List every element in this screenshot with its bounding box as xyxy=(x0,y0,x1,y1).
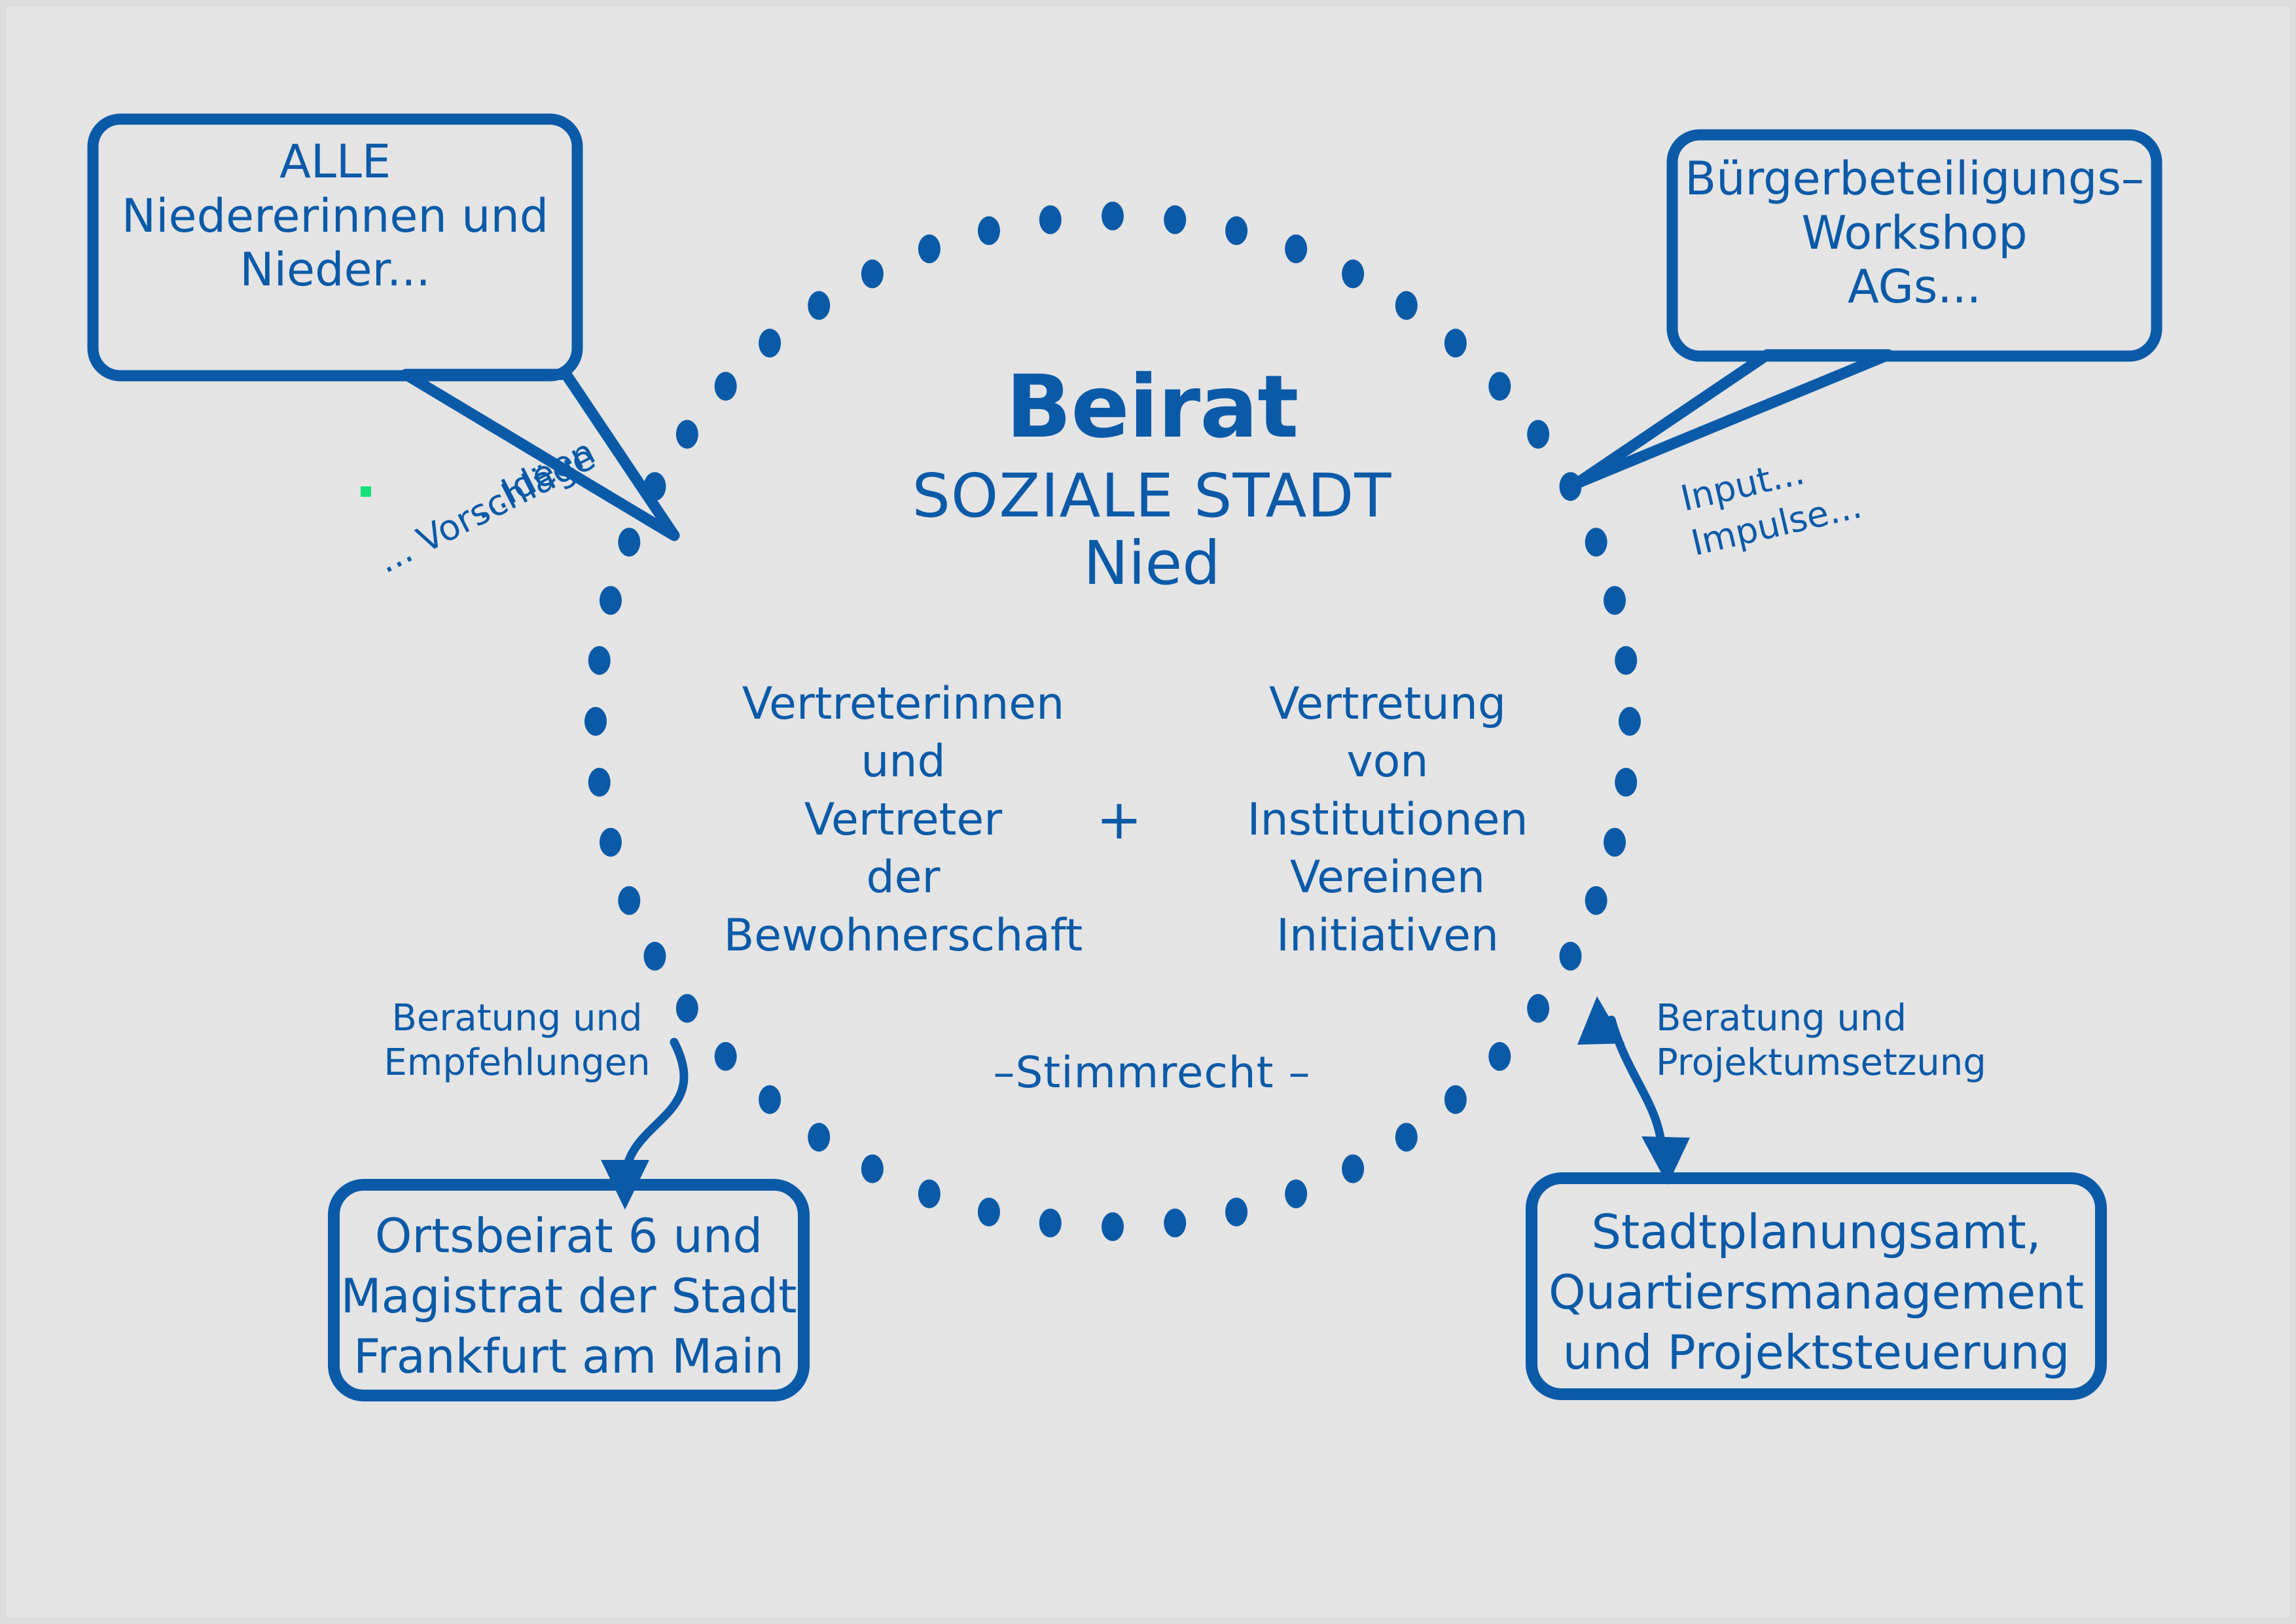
stimmrecht-note: –Stimmrecht – xyxy=(818,1051,1486,1094)
bubble-tr-line-3: AGs... xyxy=(1672,260,2157,314)
ring-dot xyxy=(808,1123,830,1151)
page-title: Beirat xyxy=(785,363,1518,452)
ring-dot xyxy=(1164,1208,1186,1237)
ring-dot xyxy=(676,994,698,1023)
ring-dot xyxy=(759,329,781,357)
right-col-line-4: Vereinen xyxy=(1185,849,1590,907)
right-col-line-2: von xyxy=(1185,733,1590,791)
ring-dot xyxy=(584,707,607,736)
ring-dot xyxy=(1395,291,1418,320)
bubble-tr-line-1: Bürgerbeteiligungs– xyxy=(1672,152,2157,206)
ring-dot xyxy=(618,886,640,915)
ring-dot xyxy=(1395,1123,1418,1151)
ring-dot xyxy=(808,291,830,320)
right-col-line-3: Institutionen xyxy=(1185,791,1590,849)
br-label-line-1: Beratung und xyxy=(1656,996,2009,1041)
connector-label-vorschlaege: ... Vorschläge xyxy=(370,437,602,583)
ring-dot xyxy=(1164,206,1186,234)
connector-label-beratung-empfehlungen: Beratung und Empfehlungen xyxy=(363,996,671,1086)
box-br-line-3: und Projektsteuerung xyxy=(1532,1322,2101,1382)
ring-dot xyxy=(1285,1180,1307,1208)
ring-dot xyxy=(759,1085,781,1114)
br-label-line-2: Projektumsetzung xyxy=(1656,1041,2009,1085)
right-col-line-5: Initiativen xyxy=(1185,907,1590,965)
ring-dot xyxy=(618,528,640,556)
ring-dot xyxy=(1560,472,1582,501)
ring-dot xyxy=(1039,206,1062,234)
ring-dot xyxy=(1102,202,1124,230)
ring-dot xyxy=(978,1198,1000,1227)
box-bl-line-3: Frankfurt am Main xyxy=(334,1326,804,1386)
ring-dot xyxy=(715,372,737,401)
ring-dot xyxy=(588,646,611,675)
center-right-column: Vertretung von Institutionen Vereinen In… xyxy=(1185,676,1590,965)
ring-dot xyxy=(1225,1198,1247,1227)
ring-dot xyxy=(676,420,698,448)
ring-dot xyxy=(1488,1042,1511,1071)
bubble-tl-line-1: ALLE xyxy=(93,135,577,189)
ring-dot xyxy=(588,768,611,797)
ring-dot xyxy=(600,828,622,857)
ring-dot xyxy=(1604,828,1626,857)
center-subtitle-2: Nied xyxy=(785,530,1518,597)
ring-dot xyxy=(1604,586,1626,615)
center-heading-block: Beirat SOZIALE STADT Nied xyxy=(785,363,1518,597)
box-bl-line-1: Ortsbeirat 6 und xyxy=(334,1206,804,1266)
box-ortsbeirat: Ortsbeirat 6 und Magistrat der Stadt Fra… xyxy=(334,1206,804,1386)
connector-label-beratung-projektumsetzung: Beratung und Projektumsetzung xyxy=(1656,996,2009,1086)
ring-dot xyxy=(1527,420,1549,448)
ring-dot xyxy=(1615,646,1637,675)
left-col-line-3: Vertreter xyxy=(700,791,1106,849)
center-left-column: Vertreterinnen und Vertreter der Bewohne… xyxy=(700,676,1106,965)
box-br-line-2: Quartiersmanagement xyxy=(1532,1262,2101,1322)
bl-label-line-2: Empfehlungen xyxy=(363,1041,671,1085)
left-col-line-5: Bewohnerschaft xyxy=(700,907,1106,965)
bl-label-line-1: Beratung und xyxy=(363,996,671,1041)
ring-dot xyxy=(918,1180,941,1208)
right-col-line-1: Vertretung xyxy=(1185,676,1590,733)
speech-bubble-top-left: ALLE Niedererinnen und Nieder... xyxy=(93,135,577,297)
ring-dot xyxy=(1039,1208,1062,1237)
ring-dot xyxy=(918,234,941,263)
diagram-canvas: ALLE Niedererinnen und Nieder... Bürgerb… xyxy=(0,0,2296,1624)
ring-dot xyxy=(1342,1155,1364,1183)
ring-dot xyxy=(861,259,884,288)
box-br-line-1: Stadtplanungsamt, xyxy=(1532,1202,2101,1262)
green-marker-dot xyxy=(361,486,371,497)
left-col-line-1: Vertreterinnen xyxy=(700,676,1106,733)
bubble-tl-line-2: Niedererinnen und xyxy=(93,189,577,244)
speech-bubble-top-right: Bürgerbeteiligungs– Workshop AGs... xyxy=(1672,152,2157,314)
left-col-line-4: der xyxy=(700,849,1106,907)
ring-dot xyxy=(1285,234,1307,263)
ring-dot xyxy=(1342,259,1364,288)
ring-dot xyxy=(1225,216,1247,245)
ring-dot xyxy=(1527,994,1549,1023)
box-bl-line-2: Magistrat der Stadt xyxy=(334,1266,804,1326)
bubble-tr-line-2: Workshop xyxy=(1672,206,2157,261)
ring-dot xyxy=(1615,768,1637,797)
ring-dot xyxy=(600,586,622,615)
left-col-line-2: und xyxy=(700,733,1106,791)
ring-dot xyxy=(1102,1212,1124,1241)
box-stadtplanungsamt: Stadtplanungsamt, Quartiersmanagement un… xyxy=(1532,1202,2101,1382)
ring-dot xyxy=(978,216,1000,245)
ring-dot xyxy=(1619,707,1641,736)
plus-operator: + xyxy=(1080,792,1158,847)
ring-dot xyxy=(643,942,666,971)
bubble-tl-line-3: Nieder... xyxy=(93,243,577,297)
center-subtitle-1: SOZIALE STADT xyxy=(785,462,1518,530)
ring-dot xyxy=(861,1155,884,1183)
ring-dot xyxy=(1444,329,1467,357)
ring-dot xyxy=(1585,528,1607,556)
ring-dot xyxy=(715,1042,737,1071)
ring-dot xyxy=(643,472,666,501)
